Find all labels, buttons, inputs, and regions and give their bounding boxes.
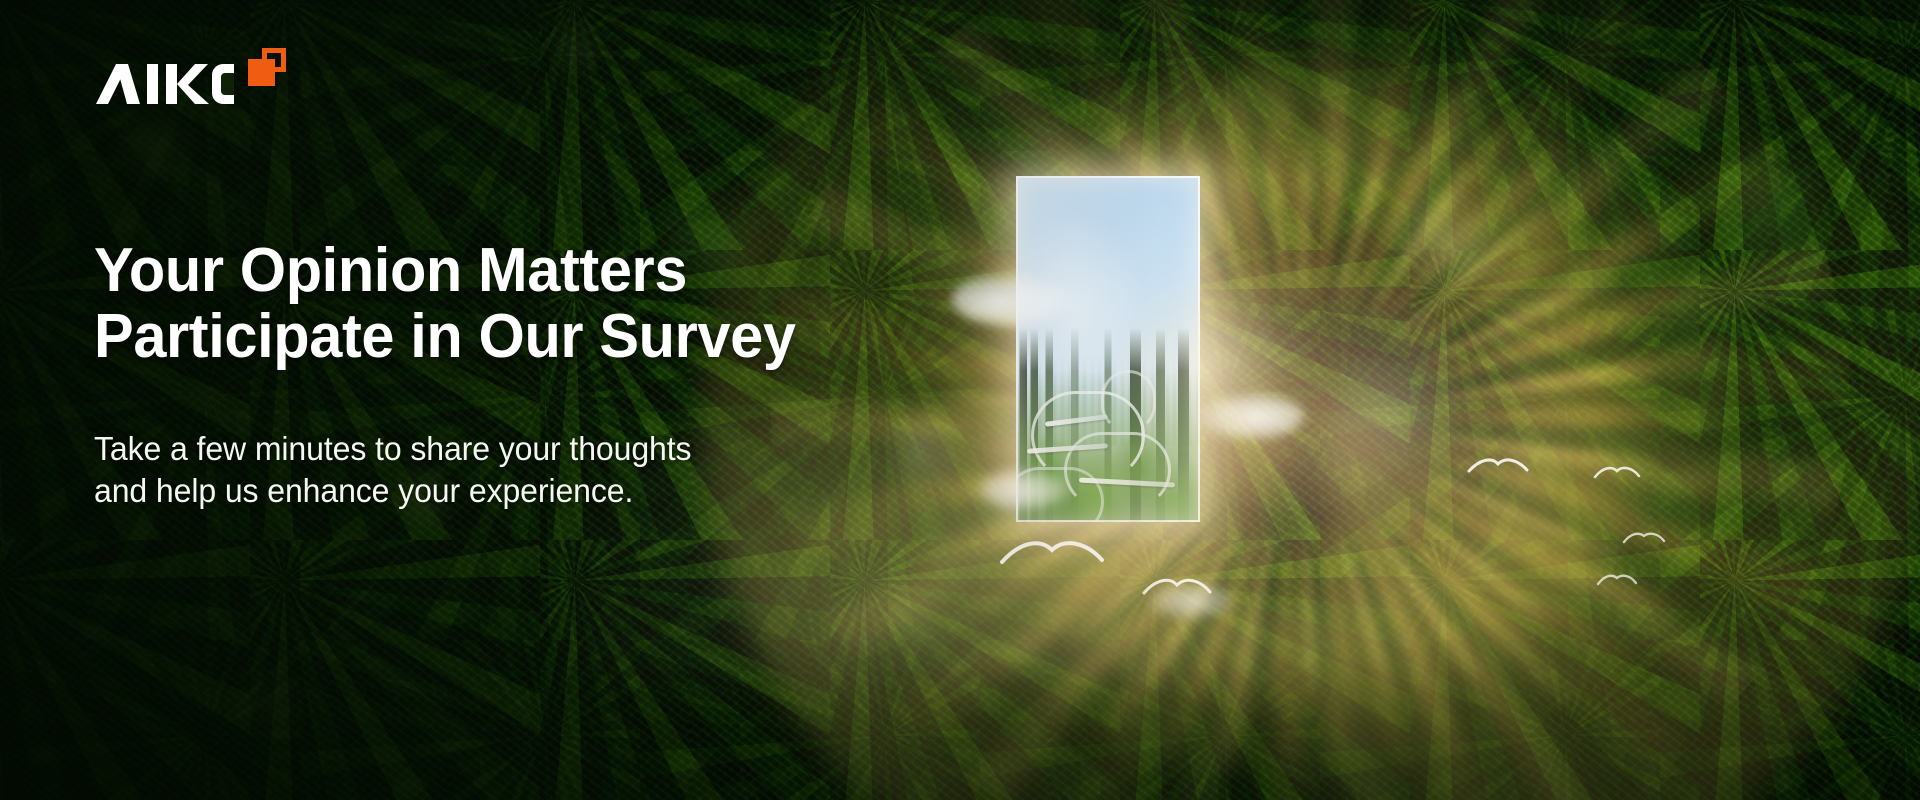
brand-wordmark: [94, 62, 234, 106]
brand-mark-icon: [248, 48, 286, 86]
brand-logo[interactable]: [94, 62, 286, 106]
page-title: Your Opinion Matters Participate in Our …: [94, 238, 796, 371]
overlapping-squares-outline-icon: [262, 48, 286, 72]
hero-banner: Your Opinion Matters Participate in Our …: [0, 0, 1920, 800]
hero-content: Your Opinion Matters Participate in Our …: [0, 0, 1920, 800]
page-subtitle: Take a few minutes to share your thought…: [94, 428, 691, 512]
